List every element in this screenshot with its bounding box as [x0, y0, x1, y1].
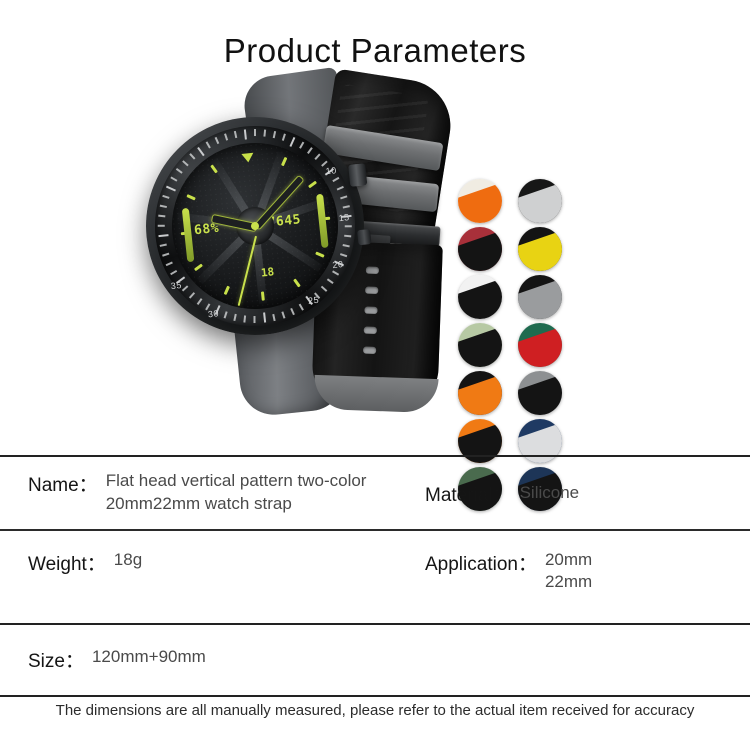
- spec-cell-material: Material： Silicone: [413, 457, 750, 529]
- dial-12-marker-icon: [241, 153, 254, 163]
- spec-value-name: Flat head vertical pattern two-color 20m…: [106, 470, 367, 516]
- bezel-tick: [224, 312, 228, 319]
- date-complication: 18: [260, 266, 275, 280]
- bezel-tick: [158, 215, 165, 217]
- bezel-tick: [158, 226, 165, 228]
- color-swatch-orange-white[interactable]: [458, 179, 502, 223]
- page-title: Product Parameters: [0, 0, 750, 69]
- strap-vent-hole: [364, 307, 377, 314]
- bezel-tick: [160, 205, 167, 208]
- spec-value-size: 120mm+90mm: [92, 646, 206, 669]
- dial-index: [260, 292, 264, 301]
- watch-pusher: [357, 229, 371, 245]
- color-swatch-sage-black[interactable]: [458, 323, 502, 367]
- color-swatch-gray-black[interactable]: [518, 371, 562, 415]
- color-swatch-black-white[interactable]: [518, 179, 562, 223]
- color-swatch-black-gray[interactable]: [518, 275, 562, 319]
- bezel-tick: [166, 262, 173, 266]
- bezel-tick: [263, 313, 266, 323]
- bezel-tick: [291, 308, 295, 315]
- spec-value-name-line2: 20mm22mm watch strap: [106, 493, 367, 516]
- bezel-tick: [344, 235, 351, 237]
- divider: [0, 695, 750, 697]
- spec-value-weight: 18g: [114, 549, 142, 572]
- spec-row-weight-application: Weight： 18g Application： 20mm 22mm: [0, 531, 750, 623]
- spec-row-name-material: Name： Flat head vertical pattern two-col…: [0, 457, 750, 529]
- spec-cell-name: Name： Flat head vertical pattern two-col…: [0, 470, 413, 516]
- strap-vent-hole: [365, 287, 378, 294]
- spec-label-name: Name：: [28, 470, 98, 497]
- bezel-tick: [163, 253, 170, 257]
- bezel-tick: [337, 186, 344, 190]
- color-swatch-black-yellow[interactable]: [518, 227, 562, 271]
- spec-cell-weight: Weight： 18g: [0, 549, 413, 576]
- bezel-number: 15: [338, 212, 350, 223]
- product-hero: 10 15 20 25 30 35: [0, 69, 750, 414]
- spec-value-application-line2: 22mm: [545, 571, 592, 594]
- strap-vent-hole: [366, 267, 379, 274]
- color-swatch-red-black[interactable]: [458, 227, 502, 271]
- bezel-tick: [224, 134, 228, 141]
- strap-grey-tip: [313, 375, 438, 413]
- spec-value-application-line1: 20mm: [545, 549, 592, 572]
- bezel-tick: [254, 129, 256, 136]
- watch-crown: [348, 163, 367, 187]
- spec-row-size: Size： 120mm+90mm: [0, 625, 750, 695]
- spec-table: Name： Flat head vertical pattern two-col…: [0, 455, 750, 697]
- spec-label-size: Size：: [28, 646, 84, 673]
- bezel-tick: [244, 130, 247, 140]
- spec-label-material: Material：: [425, 480, 512, 507]
- spec-cell-application: Application： 20mm 22mm: [413, 549, 750, 595]
- spec-label-application: Application：: [425, 549, 537, 576]
- bezel-tick: [215, 137, 219, 144]
- strap-vent-hole: [364, 327, 377, 334]
- watch-dial: 68% 7645 18: [164, 135, 346, 317]
- bezel-tick: [345, 226, 352, 228]
- bezel-tick: [254, 316, 256, 323]
- spec-label-weight: Weight：: [28, 549, 106, 576]
- bezel-tick: [160, 244, 167, 247]
- bezel-tick: [340, 196, 347, 200]
- bezel-tick: [343, 205, 350, 208]
- bezel-tick: [299, 304, 304, 311]
- product-image-watch-strap: 10 15 20 25 30 35: [128, 77, 458, 407]
- bezel-tick: [264, 130, 266, 137]
- color-swatch-white-black[interactable]: [458, 275, 502, 319]
- spec-value-application: 20mm 22mm: [545, 549, 592, 595]
- bezel-tick: [273, 131, 276, 138]
- color-swatch-green-red[interactable]: [518, 323, 562, 367]
- bezel-tick: [273, 314, 276, 321]
- bezel-tick: [159, 234, 169, 237]
- bezel-tick: [282, 312, 286, 319]
- bezel-tick: [234, 131, 237, 138]
- bezel-tick: [244, 316, 246, 323]
- color-swatch-black-orange[interactable]: [458, 371, 502, 415]
- strap-vent-hole: [363, 347, 376, 354]
- bezel-tick: [234, 314, 237, 321]
- spec-value-name-line1: Flat head vertical pattern two-color: [106, 470, 367, 493]
- spec-value-material: Silicone: [520, 482, 580, 505]
- spec-cell-size: Size： 120mm+90mm: [0, 646, 413, 673]
- measurement-disclaimer: The dimensions are all manually measured…: [0, 702, 750, 719]
- bezel-tick: [343, 244, 350, 247]
